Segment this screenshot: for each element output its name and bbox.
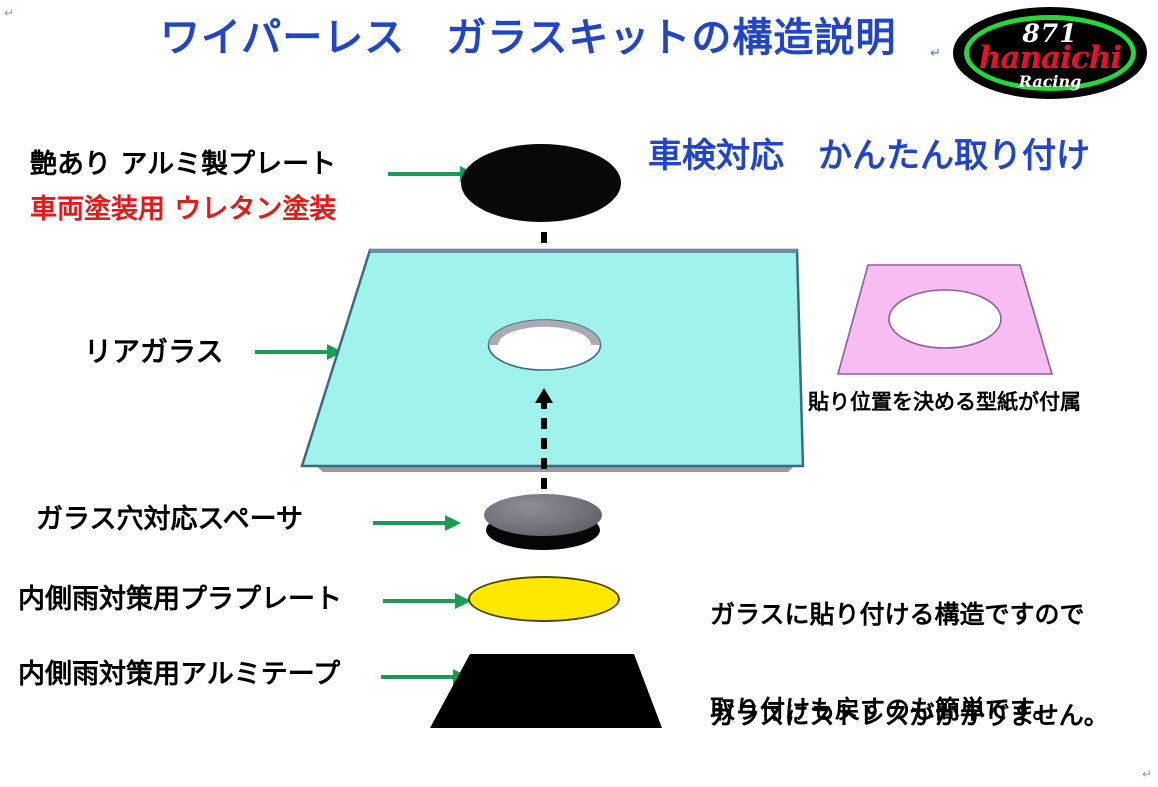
note-easy-line1: 取り付けも戻すのも簡単です。 xyxy=(710,693,1108,727)
hanaichi-racing-logo: 871 hanaichi Racing xyxy=(954,8,1146,98)
label-inner-rain-alumi-tape: 内側雨対策用アルミテープ xyxy=(18,658,340,693)
paragraph-mark-bottom-right: ↵ xyxy=(1142,767,1152,781)
logo-brand-name: hanaichi xyxy=(954,40,1146,76)
label-glass-hole-spacer: ガラス穴対応スペーサ xyxy=(36,503,303,538)
page-title: ワイパーレス ガラスキットの構造説明 xyxy=(160,14,960,62)
title-paragraph-mark: ↵ xyxy=(930,46,941,61)
label-rear-glass: リアガラス xyxy=(84,334,223,370)
arrow-to-plastic-plate-icon xyxy=(383,590,471,612)
slide-canvas: ↵ ↵ ワイパーレス ガラスキットの構造説明 ↵ 871 hanaichi Ra… xyxy=(0,0,1158,787)
spacer-top-face xyxy=(484,494,602,536)
paper-template-part xyxy=(830,262,1060,377)
glass-hole-spacer-part xyxy=(484,494,602,552)
label-inner-rain-plastic-plate: 内側雨対策用プラプレート xyxy=(18,583,342,618)
rear-glass-hole xyxy=(487,319,602,371)
note-easy: 取り付けも戻すのも簡単です。 スッキリなリアビューになります。 xyxy=(710,625,1108,787)
logo-subtitle: Racing xyxy=(954,72,1146,91)
arrow-to-spacer-icon xyxy=(373,512,461,534)
alumi-tape-part xyxy=(426,652,666,732)
paragraph-mark-top-left: ↵ xyxy=(4,6,14,20)
plastic-plate-part xyxy=(468,576,620,622)
label-urethane-paint: 車両塗装用 ウレタン塗装 xyxy=(30,193,336,228)
label-template-caption: 貼り位置を決める型紙が付属 xyxy=(808,386,1081,416)
headline-text: 車検対応 かんたん取り付け xyxy=(648,128,1090,177)
alumi-plate-part xyxy=(461,144,621,222)
motion-arrow-up-shaft xyxy=(541,398,547,490)
label-alumi-plate: 艶あり アルミ製プレート xyxy=(30,148,336,183)
